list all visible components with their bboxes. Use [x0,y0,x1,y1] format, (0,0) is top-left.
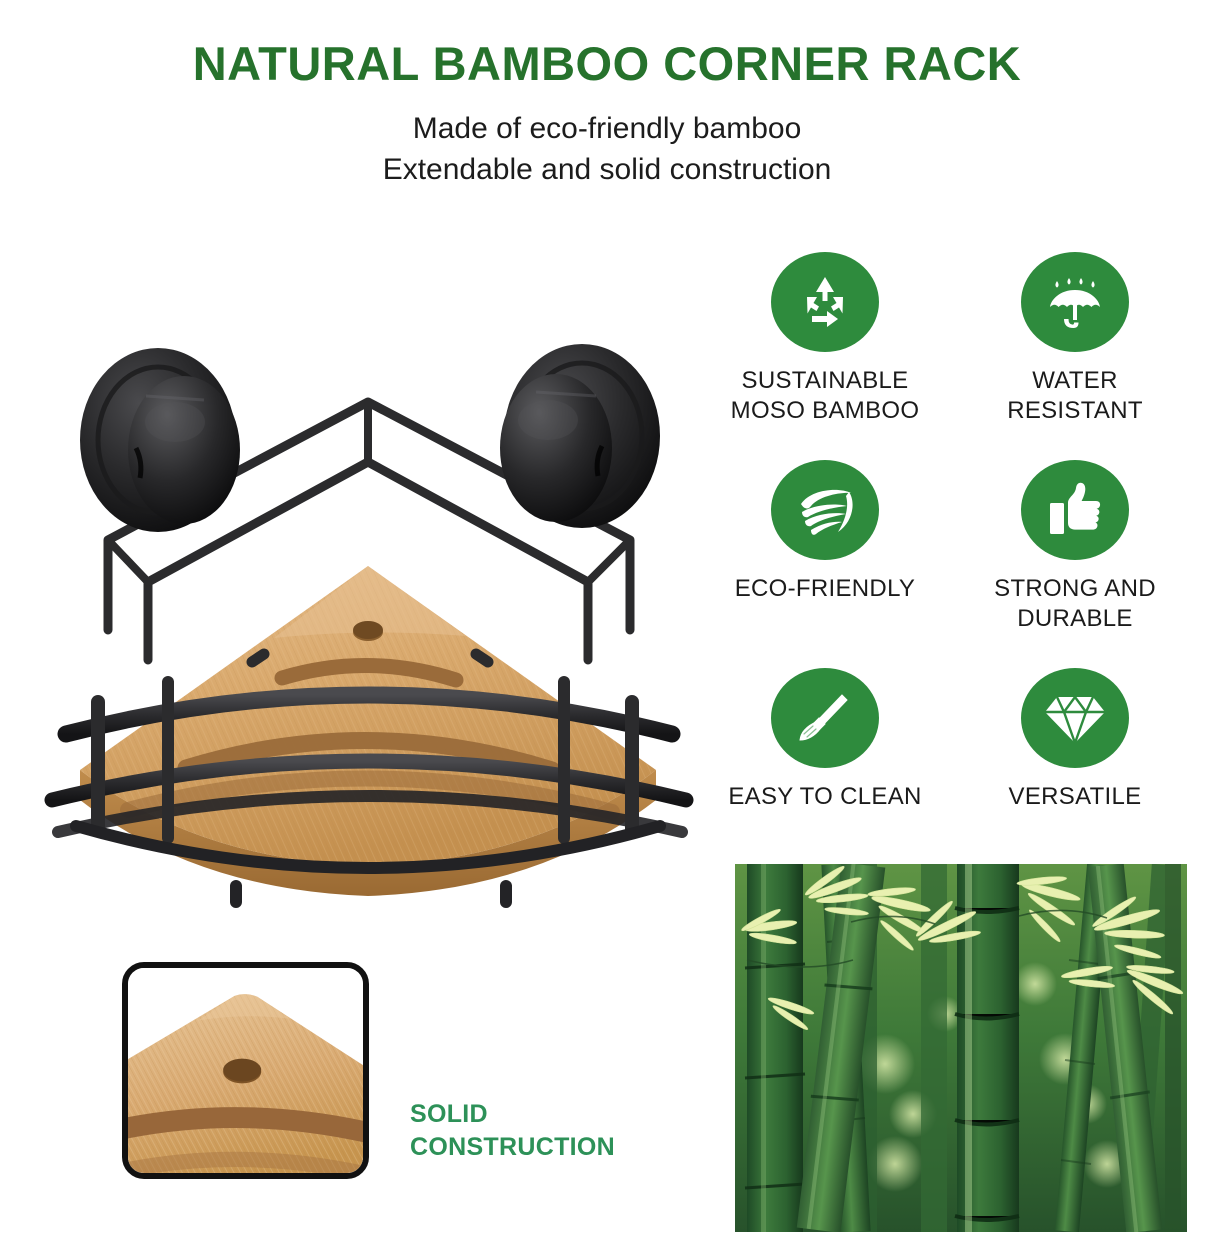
feature-label-line-1: ECO-FRIENDLY [735,574,916,604]
feature-label-line-2: DURABLE [994,604,1156,634]
feature-label: WATER RESISTANT [1007,366,1143,426]
feature-eco-friendly: ECO-FRIENDLY [700,460,950,668]
thumbs-up-icon [1021,460,1129,560]
feature-label-line-1: STRONG AND [994,574,1156,604]
subtitle-line-2: Extendable and solid construction [0,149,1214,190]
recycle-icon [771,252,879,352]
feature-label: EASY TO CLEAN [728,782,921,812]
feature-versatile: VERSATILE [950,668,1200,876]
feature-label-line-1: EASY TO CLEAN [728,782,921,812]
leaf-icon [771,460,879,560]
product-image [36,330,726,930]
subtitle-block: Made of eco-friendly bamboo Extendable a… [0,108,1214,191]
feature-easy-to-clean: EASY TO CLEAN [700,668,950,876]
detail-caption-line-2: CONSTRUCTION [410,1131,690,1164]
detail-caption: SOLID CONSTRUCTION [410,1098,690,1164]
feature-water-resistant: WATER RESISTANT [950,252,1200,460]
feature-label-line-2: MOSO BAMBOO [731,396,920,426]
header: NATURAL BAMBOO CORNER RACK Made of eco-f… [0,38,1214,190]
feature-label: SUSTAINABLE MOSO BAMBOO [731,366,920,426]
feature-label-line-1: SUSTAINABLE [731,366,920,396]
feature-sustainable-moso-bamboo: SUSTAINABLE MOSO BAMBOO [700,252,950,460]
detail-inset-solid-construction [122,962,369,1179]
feature-label: VERSATILE [1009,782,1142,812]
feature-label: STRONG AND DURABLE [994,574,1156,634]
suction-cup-right [500,344,660,528]
bamboo-forest-photo [735,864,1187,1232]
feature-grid: SUSTAINABLE MOSO BAMBOO [700,252,1200,876]
feature-strong-and-durable: STRONG AND DURABLE [950,460,1200,668]
page-title: NATURAL BAMBOO CORNER RACK [0,38,1214,90]
detail-caption-line-1: SOLID [410,1098,690,1131]
feature-label-line-2: RESISTANT [1007,396,1143,426]
diamond-icon [1021,668,1129,768]
feature-label-line-1: VERSATILE [1009,782,1142,812]
feature-label-line-1: WATER [1007,366,1143,396]
subtitle-line-1: Made of eco-friendly bamboo [0,108,1214,149]
umbrella-icon [1021,252,1129,352]
infographic-page: NATURAL BAMBOO CORNER RACK Made of eco-f… [0,0,1214,1254]
suction-cup-left [80,348,240,532]
broom-icon [771,668,879,768]
feature-label: ECO-FRIENDLY [735,574,916,604]
